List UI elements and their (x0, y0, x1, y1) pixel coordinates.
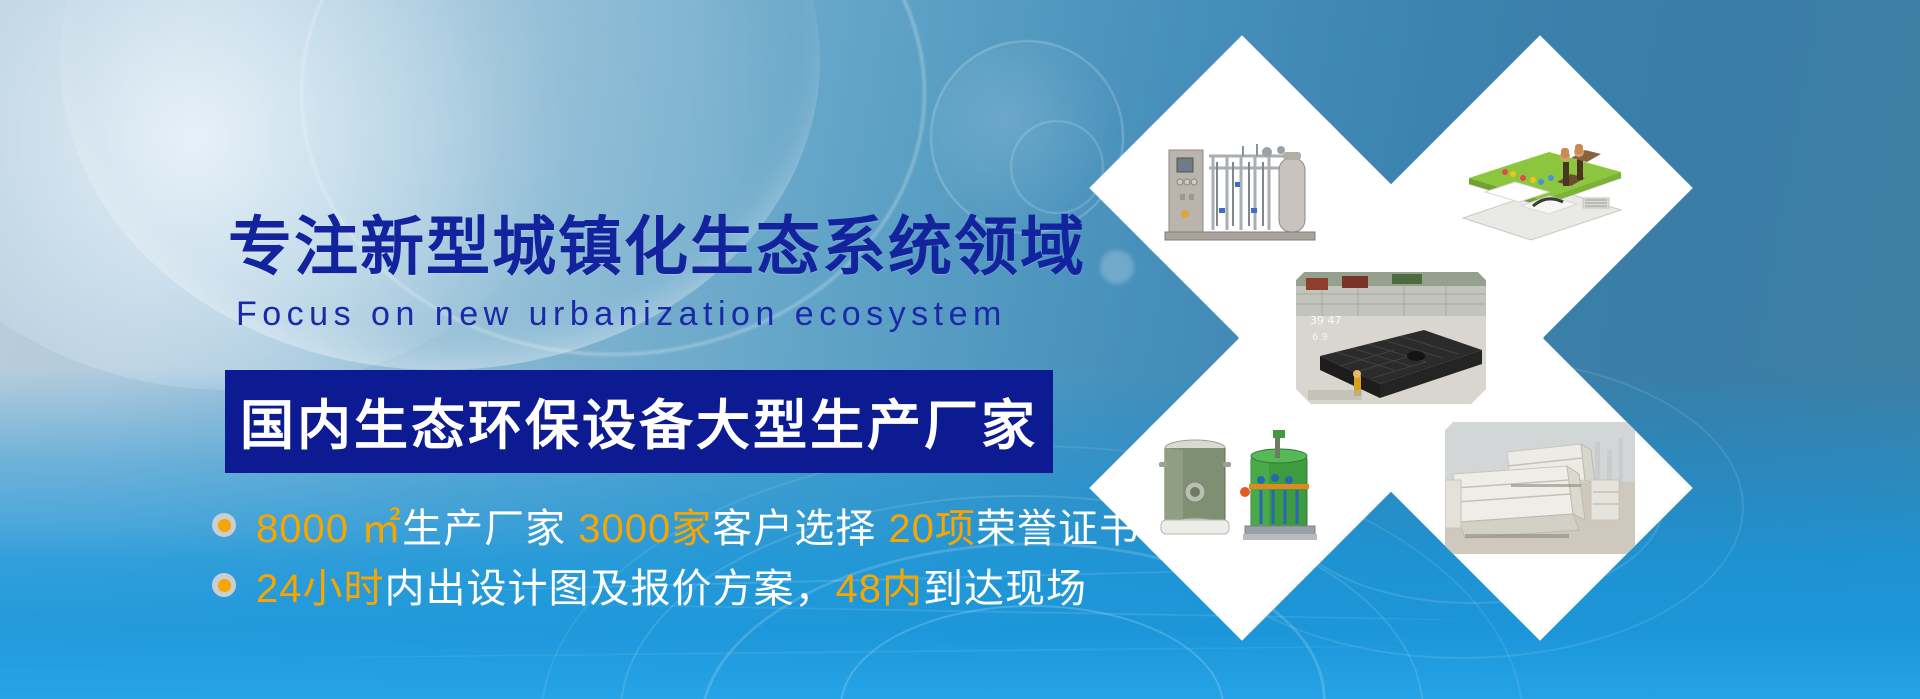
banner-subheadline: Focus on new urbanization ecosystem (236, 295, 1007, 334)
highlight-box-text: 国内生态环保设备大型生产厂家 (225, 380, 1053, 459)
bullet-text-1: 8000 ㎡生产厂家 3000家客户选择 20项荣誉证书 (256, 496, 1140, 554)
product-diamond-gallery: 39 47 6 9 (1122, 60, 1822, 660)
feature-bullet-list: 8000 ㎡生产厂家 3000家客户选择 20项荣誉证书 24小时内出设计图及报… (212, 495, 1140, 615)
list-item: 24小时内出设计图及报价方案，48内到达现场 (212, 555, 1140, 615)
precast-concrete-panels-photo (1445, 422, 1635, 554)
water-treatment-skid-photo (1147, 122, 1337, 254)
svg-text:39 47: 39 47 (1310, 314, 1342, 327)
orange-dot-icon (212, 573, 236, 597)
promo-banner: 专注新型城镇化生态系统领域 Focus on new urbanization … (0, 0, 1920, 699)
list-item: 8000 ㎡生产厂家 3000家客户选择 20项荣誉证书 (212, 495, 1140, 555)
frp-integrated-pump-station-photo (1147, 422, 1337, 554)
sewage-treatment-model-photo (1445, 122, 1635, 254)
bullet-text-2: 24小时内出设计图及报价方案，48内到达现场 (256, 556, 1087, 614)
svg-text:6 9: 6 9 (1312, 332, 1328, 343)
highlight-box: 国内生态环保设备大型生产厂家 (225, 370, 1053, 473)
orange-dot-icon (212, 513, 236, 537)
modular-rainwater-tank-photo: 39 47 6 9 (1296, 272, 1486, 404)
banner-headline: 专注新型城镇化生态系统领域 (228, 196, 1086, 288)
